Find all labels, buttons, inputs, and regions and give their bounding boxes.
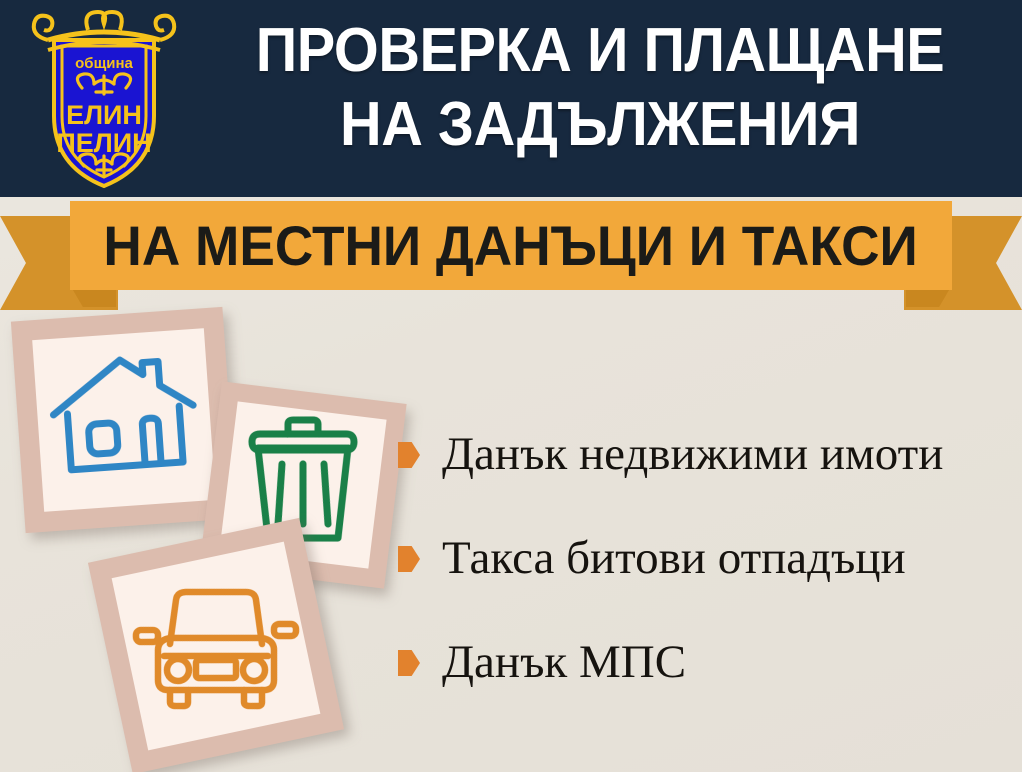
vehicle-stamp <box>88 518 344 772</box>
municipality-logo: община ЕЛИН ПЕЛИН <box>24 6 184 191</box>
page-title: ПРОВЕРКА И ПЛАЩАНЕ НА ЗАДЪЛЖЕНИЯ <box>214 14 986 162</box>
list-item[interactable]: Данък недвижими имоти <box>398 424 1018 484</box>
list-item[interactable]: Данък МПС <box>398 632 1018 692</box>
poster-root: община ЕЛИН ПЕЛИН ПРОВЕРКА И ПЛАЩАНЕ НА … <box>0 0 1022 772</box>
stamp-frame-scalloped <box>11 307 237 533</box>
page-title-line-1: ПРОВЕРКА И ПЛАЩАНЕ <box>214 14 986 88</box>
bullet-arrow-icon <box>398 650 420 676</box>
list-item-label: Такса битови отпадъци <box>442 532 906 584</box>
bullet-arrow-icon <box>398 442 420 468</box>
list-item[interactable]: Такса битови отпадъци <box>398 528 1018 588</box>
logo-word-pelin: ПЕЛИН <box>56 128 151 158</box>
header-bar: община ЕЛИН ПЕЛИН ПРОВЕРКА И ПЛАЩАНЕ НА … <box>0 0 1022 197</box>
bullet-arrow-icon <box>398 546 420 572</box>
ribbon-banner: НА МЕСТНИ ДАНЪЦИ И ТАКСИ <box>0 197 1022 309</box>
tax-type-list: Данък недвижими имоти Такса битови отпад… <box>398 424 1018 736</box>
ribbon-label: НА МЕСТНИ ДАНЪЦИ И ТАКСИ <box>104 217 918 275</box>
logo-word-elin: ЕЛИН <box>66 100 142 130</box>
list-item-label: Данък недвижими имоти <box>442 428 943 480</box>
property-stamp <box>11 307 237 533</box>
coat-of-arms-icon: община ЕЛИН ПЕЛИН <box>24 6 184 191</box>
list-item-label: Данък МПС <box>442 636 686 688</box>
logo-word-obshtina: община <box>75 55 133 72</box>
page-title-line-2: НА ЗАДЪЛЖЕНИЯ <box>214 88 986 162</box>
stamp-frame-scalloped <box>88 518 344 772</box>
ribbon-body: НА МЕСТНИ ДАНЪЦИ И ТАКСИ <box>70 201 952 290</box>
